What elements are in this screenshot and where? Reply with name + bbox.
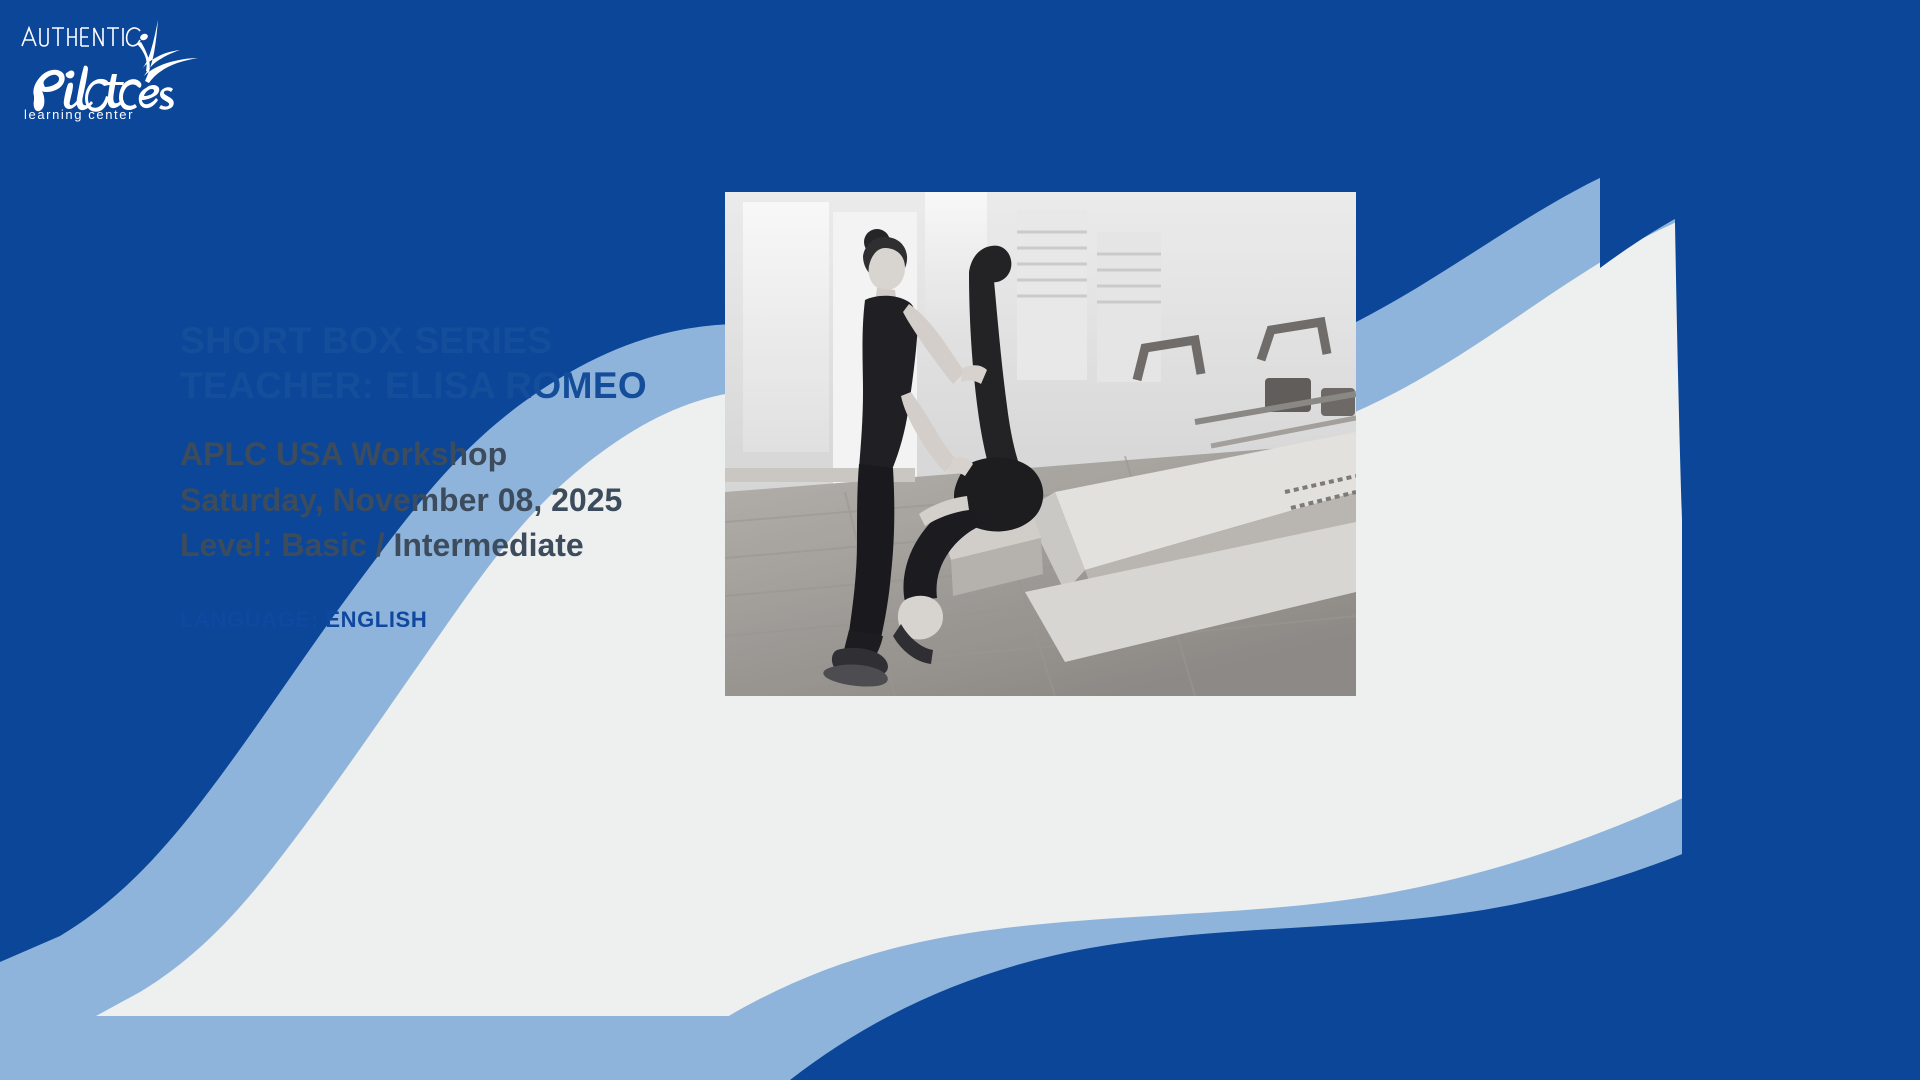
pilates-figure-swoosh-icon bbox=[137, 20, 198, 83]
detail-workshop-name: APLC USA Workshop bbox=[180, 432, 700, 477]
grayscale-wash bbox=[725, 192, 1356, 696]
workshop-photo bbox=[725, 192, 1356, 696]
brand-logo: learning center bbox=[18, 14, 228, 124]
detail-date: Saturday, November 08, 2025 bbox=[180, 478, 700, 523]
promotional-slide: learning center TOOLBOX SERIES SHORT BOX… bbox=[0, 0, 1920, 1080]
headline-line-2: TEACHER: ELISA ROMEO bbox=[180, 363, 700, 408]
detail-level: Level: Basic / Intermediate bbox=[180, 523, 700, 568]
workshop-info-block: SHORT BOX SERIES TEACHER: ELISA ROMEO AP… bbox=[180, 318, 700, 633]
logo-authentic-text bbox=[22, 28, 140, 46]
headline-line-1: SHORT BOX SERIES bbox=[180, 318, 700, 363]
logo-tagline: learning center bbox=[24, 107, 134, 122]
language-label: LANGUAGE: ENGLISH bbox=[180, 607, 700, 633]
svg-text:learning center: learning center bbox=[24, 107, 134, 122]
workshop-details: APLC USA Workshop Saturday, November 08,… bbox=[180, 432, 700, 568]
page-title: TOOLBOX SERIES bbox=[596, 84, 1336, 152]
